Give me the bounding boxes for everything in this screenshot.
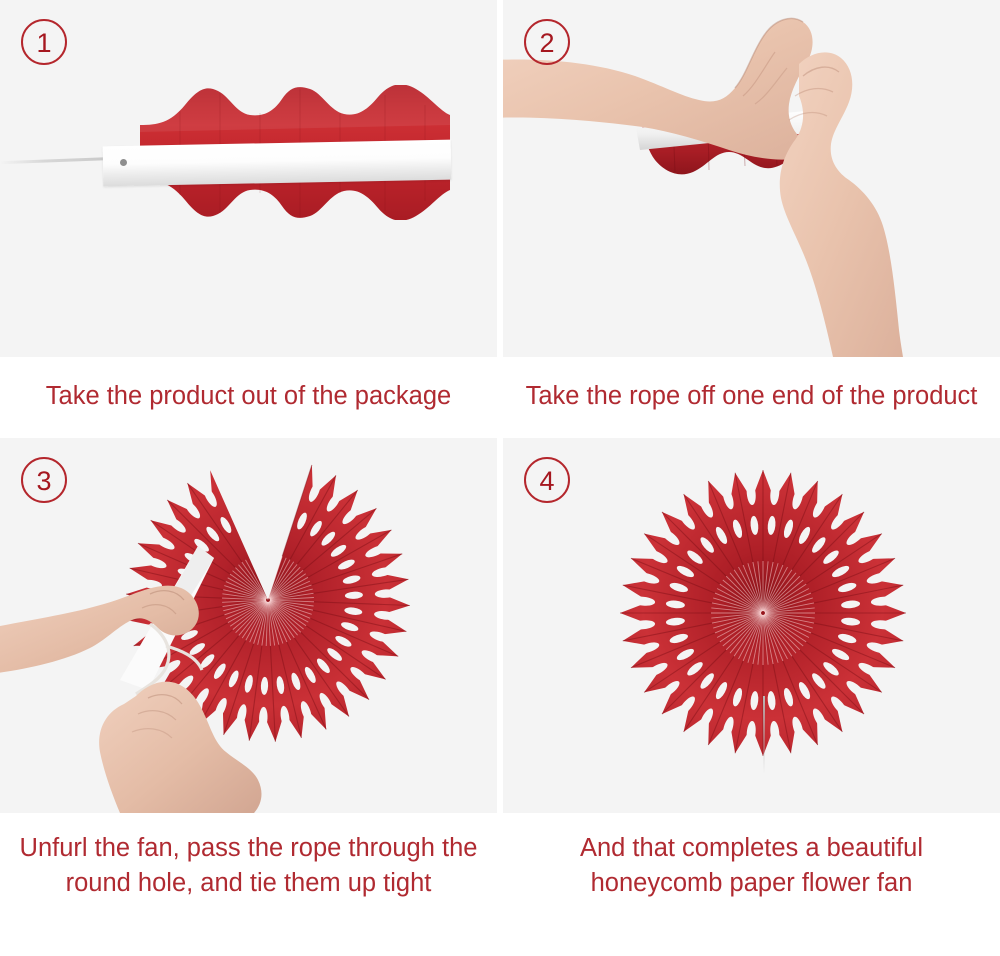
step-2-caption: Take the rope off one end of the product — [526, 379, 978, 414]
right-hand-tying — [99, 682, 261, 813]
rope — [0, 157, 112, 164]
step-number-1: 1 — [21, 19, 67, 65]
step-3-caption-area: Unfurl the fan, pass the rope through th… — [0, 813, 497, 956]
step-card-3: 3 — [0, 438, 497, 956]
eyelet-hole — [120, 159, 127, 166]
step-2-caption-area: Take the rope off one end of the product — [503, 357, 1000, 432]
step-number-4: 4 — [524, 457, 570, 503]
step-4-image: 4 — [503, 438, 1000, 813]
right-hand — [780, 52, 903, 357]
step-3-caption: Unfurl the fan, pass the rope through th… — [14, 831, 484, 901]
step-1-caption-area: Take the product out of the package — [0, 357, 497, 432]
folded-fan-illustration — [0, 0, 497, 357]
hands-removing-rope-illustration — [503, 0, 1000, 357]
instruction-sheet: 1 — [0, 0, 1000, 956]
step-1-caption: Take the product out of the package — [46, 379, 451, 414]
step-number-3: 3 — [21, 457, 67, 503]
step-3-image: 3 — [0, 438, 497, 813]
step-card-1: 1 — [0, 0, 497, 432]
step-4-caption-area: And that completes a beautiful honeycomb… — [503, 813, 1000, 956]
hanging-thread — [763, 696, 765, 774]
step-number-2: 2 — [524, 19, 570, 65]
step-card-2: 2 — [503, 0, 1000, 432]
step-4-caption: And that completes a beautiful honeycomb… — [517, 831, 987, 901]
white-cardboard-band — [103, 140, 452, 187]
step-1-image: 1 — [0, 0, 497, 357]
hands-tying-rope — [0, 528, 360, 813]
step-2-image: 2 — [503, 0, 1000, 357]
step-card-4: 4 And that completes a beautiful honeyco… — [503, 438, 1000, 956]
